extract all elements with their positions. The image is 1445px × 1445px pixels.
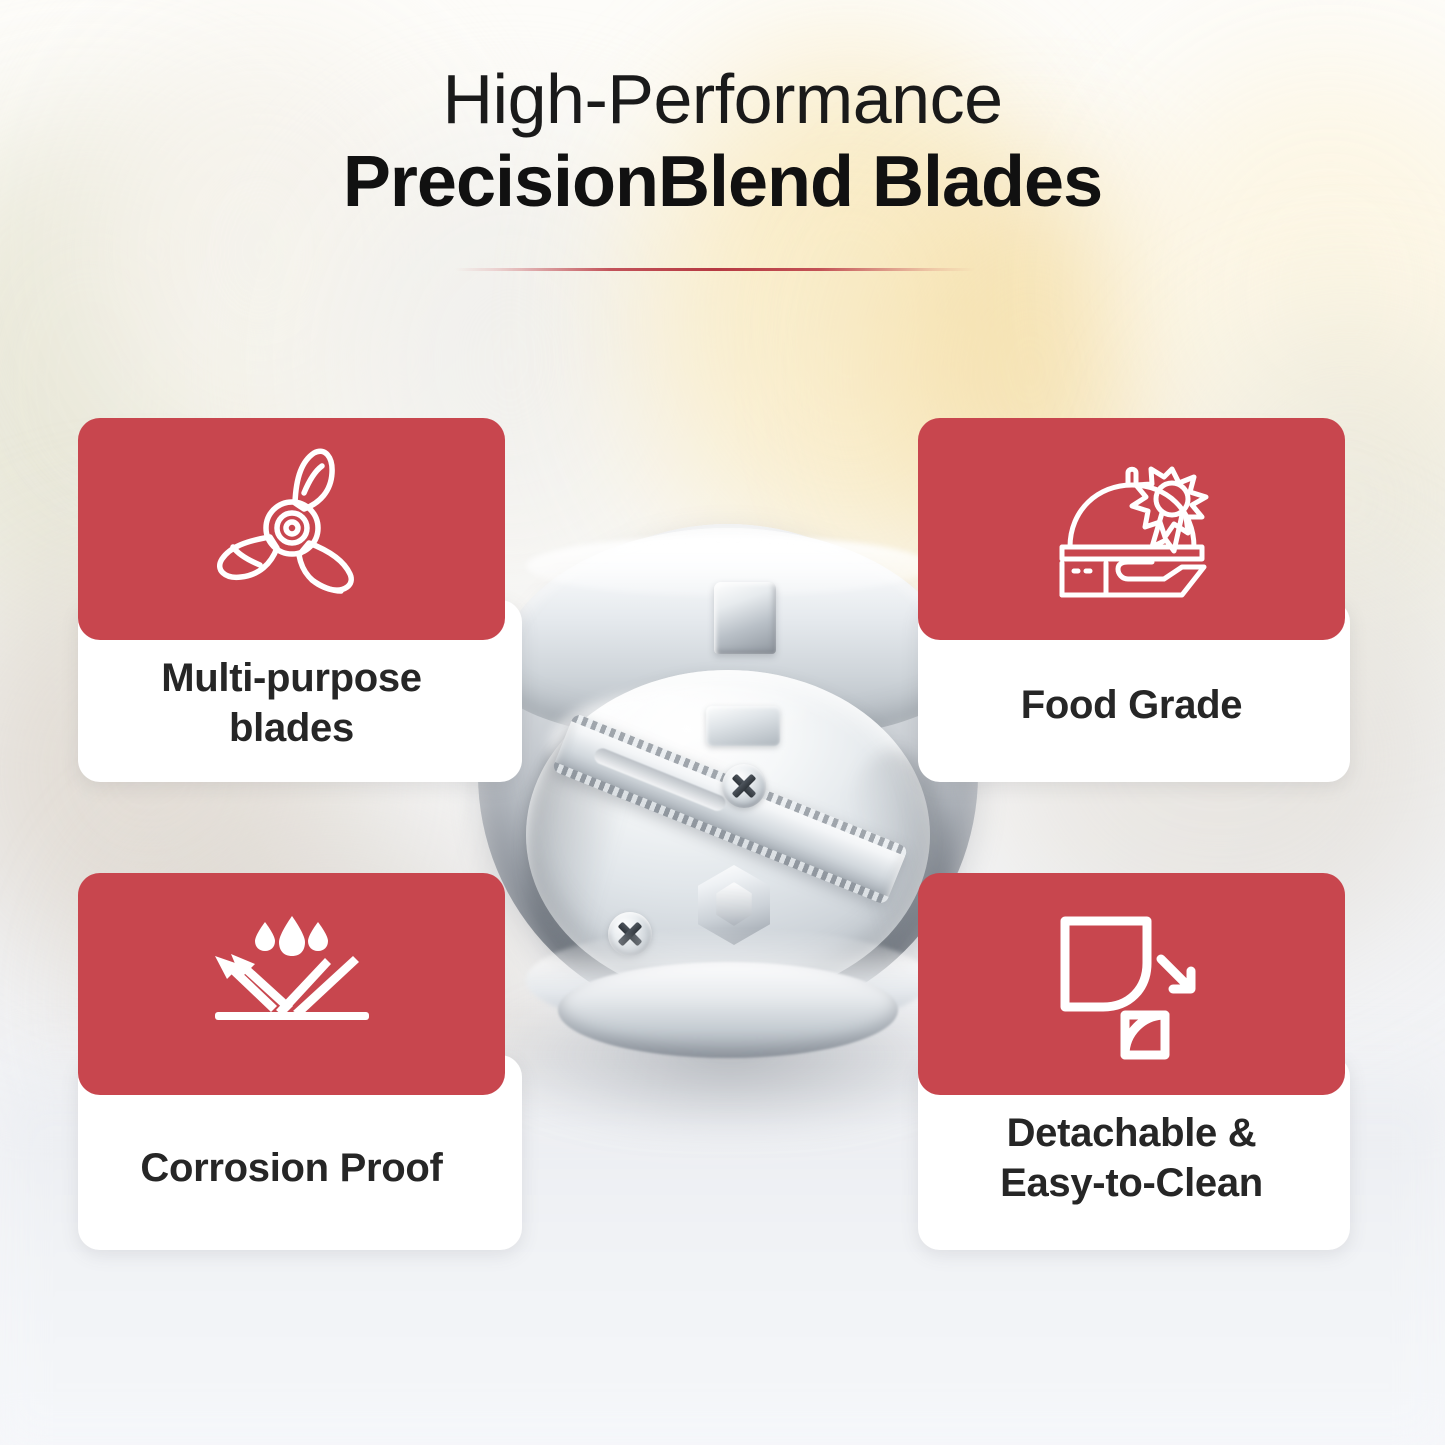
feature-label-line-1: Food Grade [918, 680, 1345, 730]
inner-locking-lug [706, 706, 780, 746]
phillips-screw-icon [722, 764, 766, 808]
title-divider [455, 268, 975, 271]
water-repellent-icon [78, 885, 505, 1081]
infographic-canvas: High-Performance PrecisionBlend Blades [0, 0, 1445, 1445]
title-line-light: High-Performance [0, 62, 1445, 136]
feature-label-line-1: Multi-purpose [78, 653, 505, 703]
feature-label-line-2: blades [78, 703, 505, 753]
feature-card-label: Food Grade [918, 680, 1345, 730]
food-cloche-award-icon [918, 430, 1345, 626]
feature-card-label: Corrosion Proof [78, 1143, 505, 1193]
page-title: High-Performance PrecisionBlend Blades [0, 62, 1445, 223]
propeller-icon [78, 430, 505, 626]
feature-label-line-2: Easy-to-Clean [918, 1158, 1345, 1208]
jar-locking-tab [714, 582, 776, 654]
feature-card-label: Detachable & Easy-to-Clean [918, 1108, 1345, 1208]
feature-card-label: Multi-purpose blades [78, 653, 505, 753]
feature-label-line-1: Detachable & [918, 1108, 1345, 1158]
feature-label-line-1: Corrosion Proof [78, 1143, 505, 1193]
jar-base-ring [558, 962, 898, 1058]
title-line-bold: PrecisionBlend Blades [0, 142, 1445, 223]
detachable-corner-arrow-icon [918, 885, 1345, 1081]
